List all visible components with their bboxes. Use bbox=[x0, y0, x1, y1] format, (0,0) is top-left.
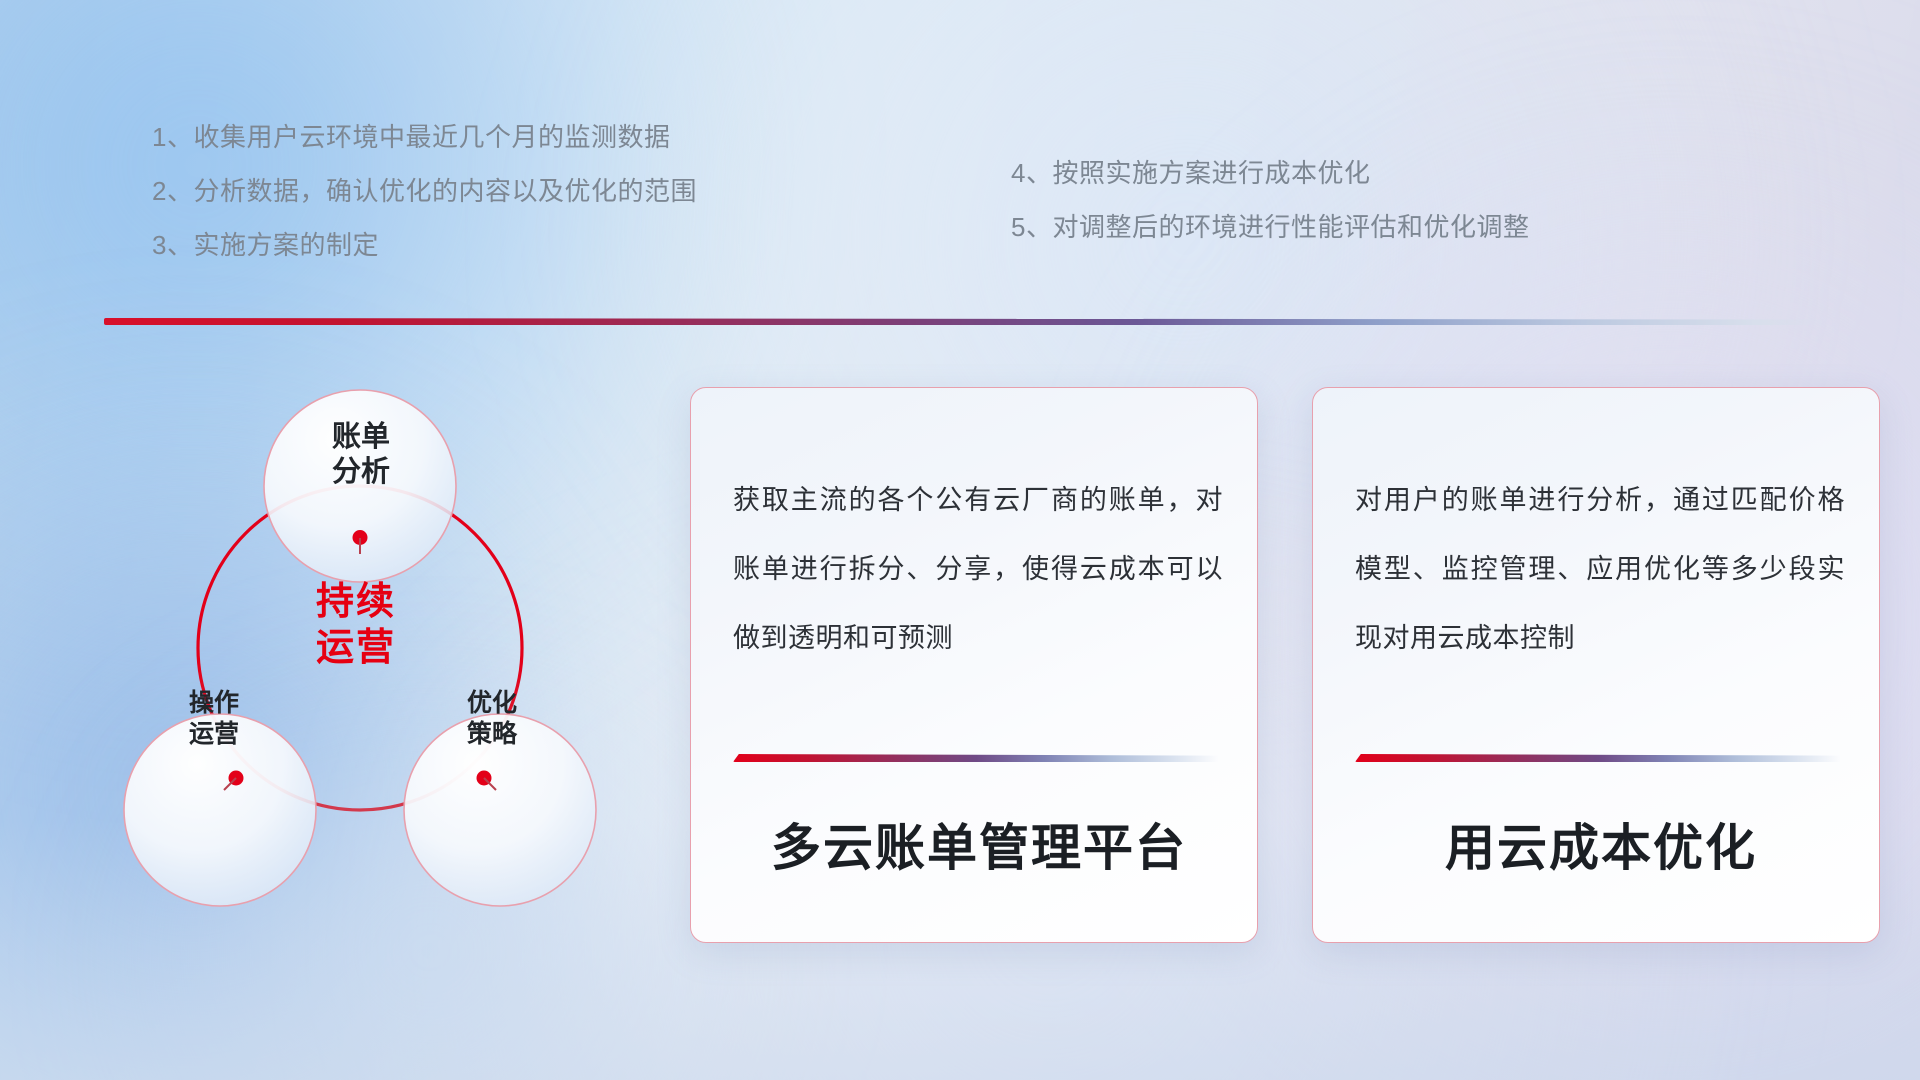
card-divider bbox=[1355, 754, 1841, 762]
step-item-5: 5、对调整后的环境进行性能评估和优化调整 bbox=[1011, 214, 1529, 240]
venn-label-operations: 操作 运营 bbox=[134, 688, 294, 749]
venn-label-ops-line2: 运营 bbox=[134, 719, 294, 750]
venn-label-ops-line1: 操作 bbox=[134, 688, 294, 719]
venn-center-label-line1: 持续 bbox=[256, 580, 456, 626]
venn-label-strategy: 优化 策略 bbox=[412, 688, 572, 749]
venn-center-label: 持续 运营 bbox=[256, 580, 456, 671]
card-multi-cloud-billing-platform[interactable]: 获取主流的各个公有云厂商的账单，对账单进行拆分、分享，使得云成本可以做到透明和可… bbox=[690, 387, 1258, 943]
step-item-4: 4、按照实施方案进行成本优化 bbox=[1011, 160, 1529, 186]
venn-diagram: 账单 分析 操作 运营 优化 策略 持续 运营 bbox=[96, 358, 616, 938]
step-item-1: 1、收集用户云环境中最近几个月的监测数据 bbox=[152, 124, 697, 150]
step-item-2: 2、分析数据，确认优化的内容以及优化的范围 bbox=[152, 178, 697, 204]
step-item-3: 3、实施方案的制定 bbox=[152, 232, 697, 258]
venn-center-label-line2: 运营 bbox=[256, 626, 456, 672]
venn-label-strategy-line1: 优化 bbox=[412, 688, 572, 719]
card-title: 用云成本优化 bbox=[1353, 808, 1849, 880]
venn-label-bill-analysis: 账单 分析 bbox=[276, 420, 446, 491]
venn-label-strategy-line2: 策略 bbox=[412, 719, 572, 750]
card-cloud-cost-optimization[interactable]: 对用户的账单进行分析，通过匹配价格模型、监控管理、应用优化等多少段实现对用云成本… bbox=[1312, 387, 1880, 943]
venn-label-bill-line2: 分析 bbox=[276, 455, 446, 490]
venn-label-bill-line1: 账单 bbox=[276, 420, 446, 455]
card-title: 多云账单管理平台 bbox=[731, 808, 1227, 880]
steps-left-column: 1、收集用户云环境中最近几个月的监测数据 2、分析数据，确认优化的内容以及优化的… bbox=[152, 124, 697, 258]
card-body-text: 对用户的账单进行分析，通过匹配价格模型、监控管理、应用优化等多少段实现对用云成本… bbox=[1355, 466, 1845, 673]
card-divider bbox=[733, 754, 1219, 762]
steps-right-column: 4、按照实施方案进行成本优化 5、对调整后的环境进行性能评估和优化调整 bbox=[1011, 160, 1529, 240]
card-body-text: 获取主流的各个公有云厂商的账单，对账单进行拆分、分享，使得云成本可以做到透明和可… bbox=[733, 466, 1223, 673]
